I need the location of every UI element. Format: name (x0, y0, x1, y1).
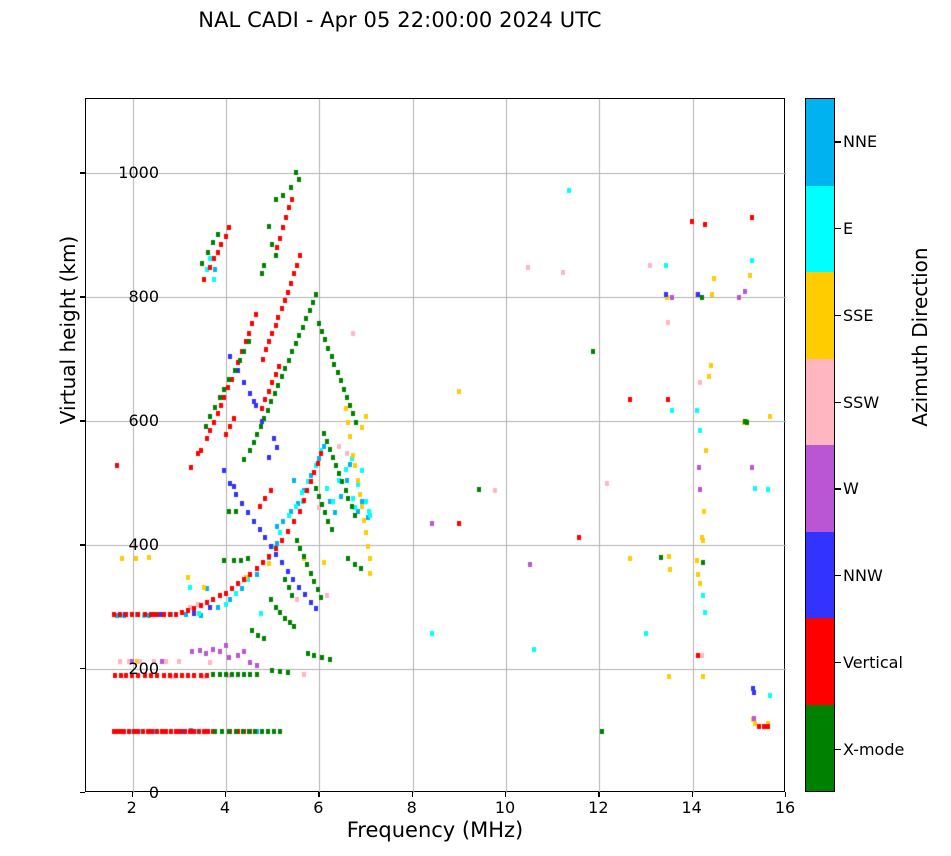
x-tick-mark (225, 792, 226, 797)
colorbar-tick-label-ssw: SSW (843, 393, 879, 412)
plot-area (85, 98, 785, 792)
colorbar-tick-label-e: E (843, 219, 853, 238)
colorbar-tick-label-nne: NNE (843, 132, 877, 151)
x-tick-label: 14 (662, 798, 722, 817)
colorbar-tick-mark (835, 575, 841, 576)
colorbar-segment-x-mode (806, 705, 834, 792)
colorbar-tick-label-nnw: NNW (843, 566, 883, 585)
colorbar-tick-mark (835, 228, 841, 229)
colorbar-segment-e (806, 186, 834, 273)
y-tick-label: 800 (99, 287, 159, 306)
x-tick-mark (132, 792, 133, 797)
colorbar-tick-label-vertical: Vertical (843, 653, 903, 672)
page-title: NAL CADI - Apr 05 22:00:00 2024 UTC (0, 8, 800, 32)
y-tick-label: 1000 (99, 163, 159, 182)
x-tick-mark (785, 792, 786, 797)
x-tick-label: 10 (475, 798, 535, 817)
colorbar-tick-mark (835, 488, 841, 489)
x-tick-mark (598, 792, 599, 797)
colorbar-tick-mark (835, 662, 841, 663)
y-tick-label: 400 (99, 535, 159, 554)
y-tick-label: 600 (99, 411, 159, 430)
colorbar-segment-nnw (806, 532, 834, 619)
y-tick-mark (80, 544, 85, 545)
y-axis-label: Virtual height (km) (56, 200, 80, 460)
ionogram-figure: NAL CADI - Apr 05 22:00:00 2024 UTC Virt… (0, 0, 951, 856)
x-tick-label: 2 (102, 798, 162, 817)
colorbar-segment-w (806, 445, 834, 532)
colorbar-tick-mark (835, 141, 841, 142)
colorbar-tick-label-w: W (843, 479, 859, 498)
colorbar-segment-nne (806, 99, 834, 186)
y-tick-mark (80, 420, 85, 421)
scatter-canvas (86, 99, 786, 793)
x-axis-label: Frequency (MHz) (85, 818, 785, 842)
colorbar-tick-mark (835, 315, 841, 316)
y-tick-mark (80, 668, 85, 669)
y-tick-mark (80, 172, 85, 173)
x-tick-label: 6 (288, 798, 348, 817)
colorbar-segment-vertical (806, 618, 834, 705)
colorbar-tick-mark (835, 402, 841, 403)
y-tick-mark (80, 296, 85, 297)
colorbar-segment-sse (806, 272, 834, 359)
x-tick-label: 12 (568, 798, 628, 817)
colorbar-tick-mark (835, 749, 841, 750)
x-tick-label: 16 (755, 798, 815, 817)
x-tick-mark (505, 792, 506, 797)
x-tick-mark (412, 792, 413, 797)
colorbar (805, 98, 835, 792)
y-tick-mark (80, 792, 85, 793)
y-tick-label: 200 (99, 659, 159, 678)
colorbar-segment-ssw (806, 359, 834, 446)
x-tick-label: 4 (195, 798, 255, 817)
x-tick-mark (318, 792, 319, 797)
colorbar-tick-label-sse: SSE (843, 306, 873, 325)
colorbar-tick-label-x-mode: X-mode (843, 740, 904, 759)
colorbar-label: Azimuth Direction (908, 207, 932, 467)
x-tick-mark (692, 792, 693, 797)
x-tick-label: 8 (382, 798, 442, 817)
